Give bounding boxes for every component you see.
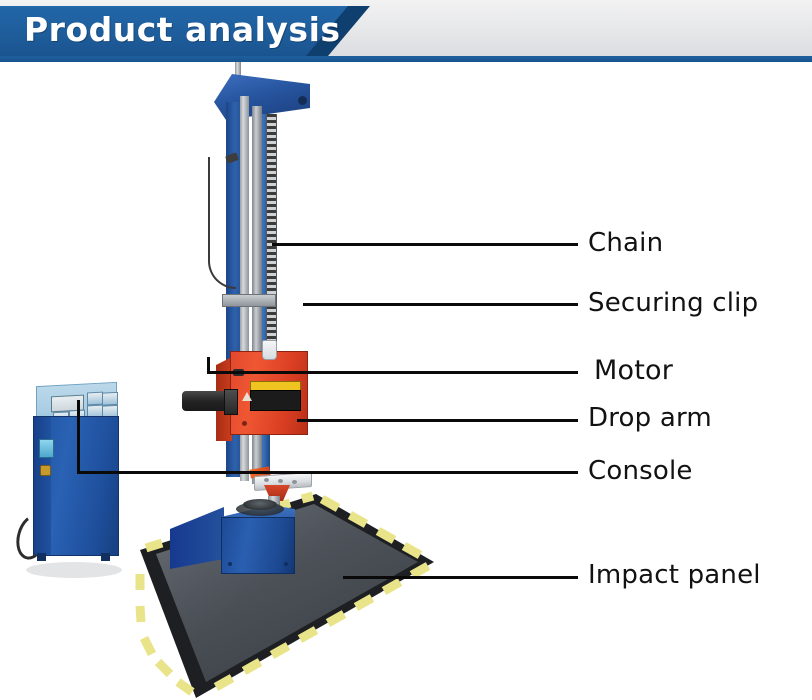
leader-line-motor (207, 371, 578, 374)
leader-line-console-vertical (77, 400, 80, 473)
leader-line-console (77, 471, 578, 474)
base-bolt-right (284, 562, 288, 566)
page-header-banner: Product analysis (0, 0, 812, 62)
page-title: Product analysis (24, 8, 341, 54)
drop-arm-hole-3 (292, 480, 297, 484)
base-turntable (243, 499, 277, 510)
tower-head-bolt (298, 96, 307, 105)
leader-line-chain (272, 243, 578, 246)
machine-scene (0, 62, 812, 700)
console-sticker (39, 439, 54, 458)
tower-head-bolt-secondary (296, 112, 303, 119)
base-bolt-left (228, 562, 232, 566)
callout-label-impact-panel: Impact panel (588, 560, 761, 590)
leader-line-impact-panel (343, 576, 578, 579)
callout-label-drop-arm: Drop arm (588, 403, 712, 433)
callout-label-chain: Chain (588, 228, 663, 258)
tower-cable (208, 157, 236, 289)
leader-line-drop-arm (297, 419, 578, 422)
chain-part (266, 114, 277, 364)
console-lock-icon[interactable] (40, 465, 51, 476)
console-foot-right (101, 553, 110, 561)
drop-arm-hole-2 (278, 479, 283, 483)
tower-cross-bracket (222, 294, 276, 307)
console-button-3[interactable] (102, 392, 118, 406)
callout-label-motor: Motor (594, 355, 673, 386)
machine-base-front (221, 517, 295, 574)
motor-cylinder (182, 391, 230, 411)
machine-tower (196, 62, 346, 532)
drop-arm-hole-1 (264, 478, 269, 482)
product-photo-diagram: Chain Securing clip Motor Drop arm Conso… (0, 62, 812, 700)
motor-cylinder-cap (224, 389, 238, 415)
motor-screw (242, 421, 247, 426)
motor-housing (216, 351, 306, 441)
leader-line-securing-clip (303, 303, 578, 306)
callout-label-securing-clip: Securing clip (588, 288, 758, 318)
console-cabinet[interactable] (29, 384, 122, 564)
motor-spec-label-black (250, 390, 301, 411)
console-floor-shadow (26, 562, 122, 578)
warning-triangle-icon (242, 392, 252, 401)
securing-clip-part (262, 340, 277, 360)
callout-label-console: Console (588, 456, 693, 486)
console-button-1[interactable] (87, 392, 103, 406)
